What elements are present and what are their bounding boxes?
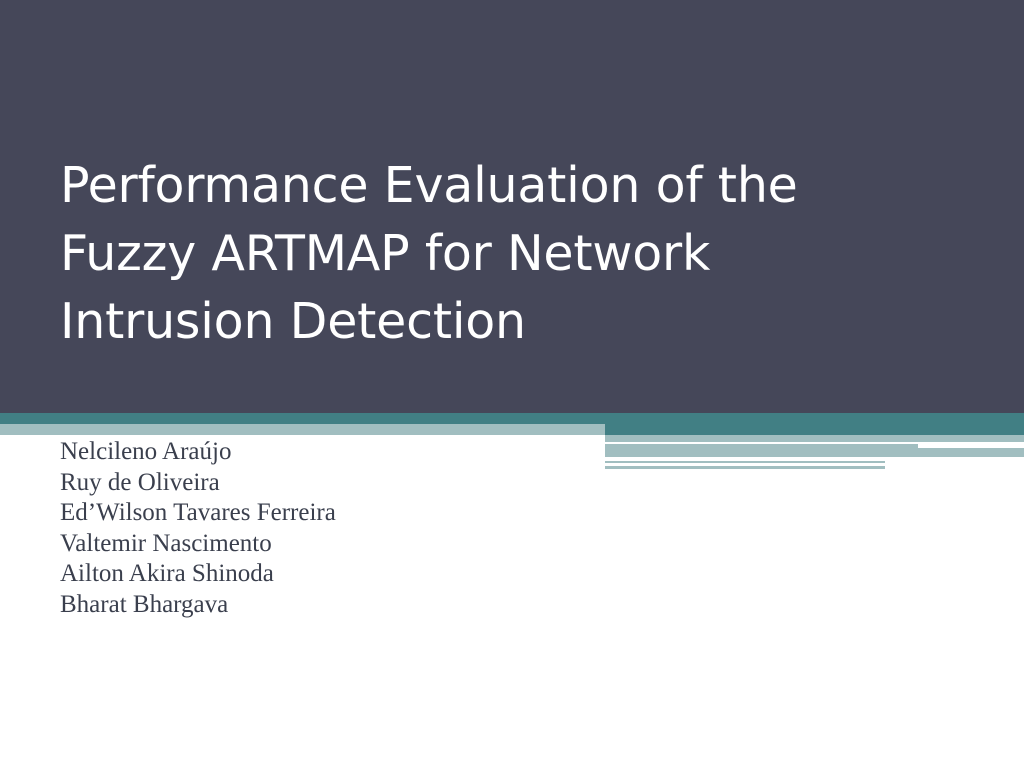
author-name: Ruy de Oliveira [60, 468, 680, 499]
accent-band-light-teal [0, 424, 605, 435]
author-name: Bharat Bhargava [60, 590, 680, 621]
author-name: Ailton Akira Shinoda [60, 559, 680, 590]
accent-band-teal-right [605, 413, 1024, 435]
title-slide: Performance Evaluation of the Fuzzy ARTM… [0, 0, 1024, 768]
author-name: Ed’Wilson Tavares Ferreira [60, 498, 680, 529]
author-name: Valtemir Nascimento [60, 529, 680, 560]
author-list: Nelcileno Araújo Ruy de Oliveira Ed’Wils… [60, 437, 680, 620]
page-title: Performance Evaluation of the Fuzzy ARTM… [60, 152, 920, 356]
decorative-stripe-4 [852, 453, 1024, 457]
author-name: Nelcileno Araújo [60, 437, 680, 468]
